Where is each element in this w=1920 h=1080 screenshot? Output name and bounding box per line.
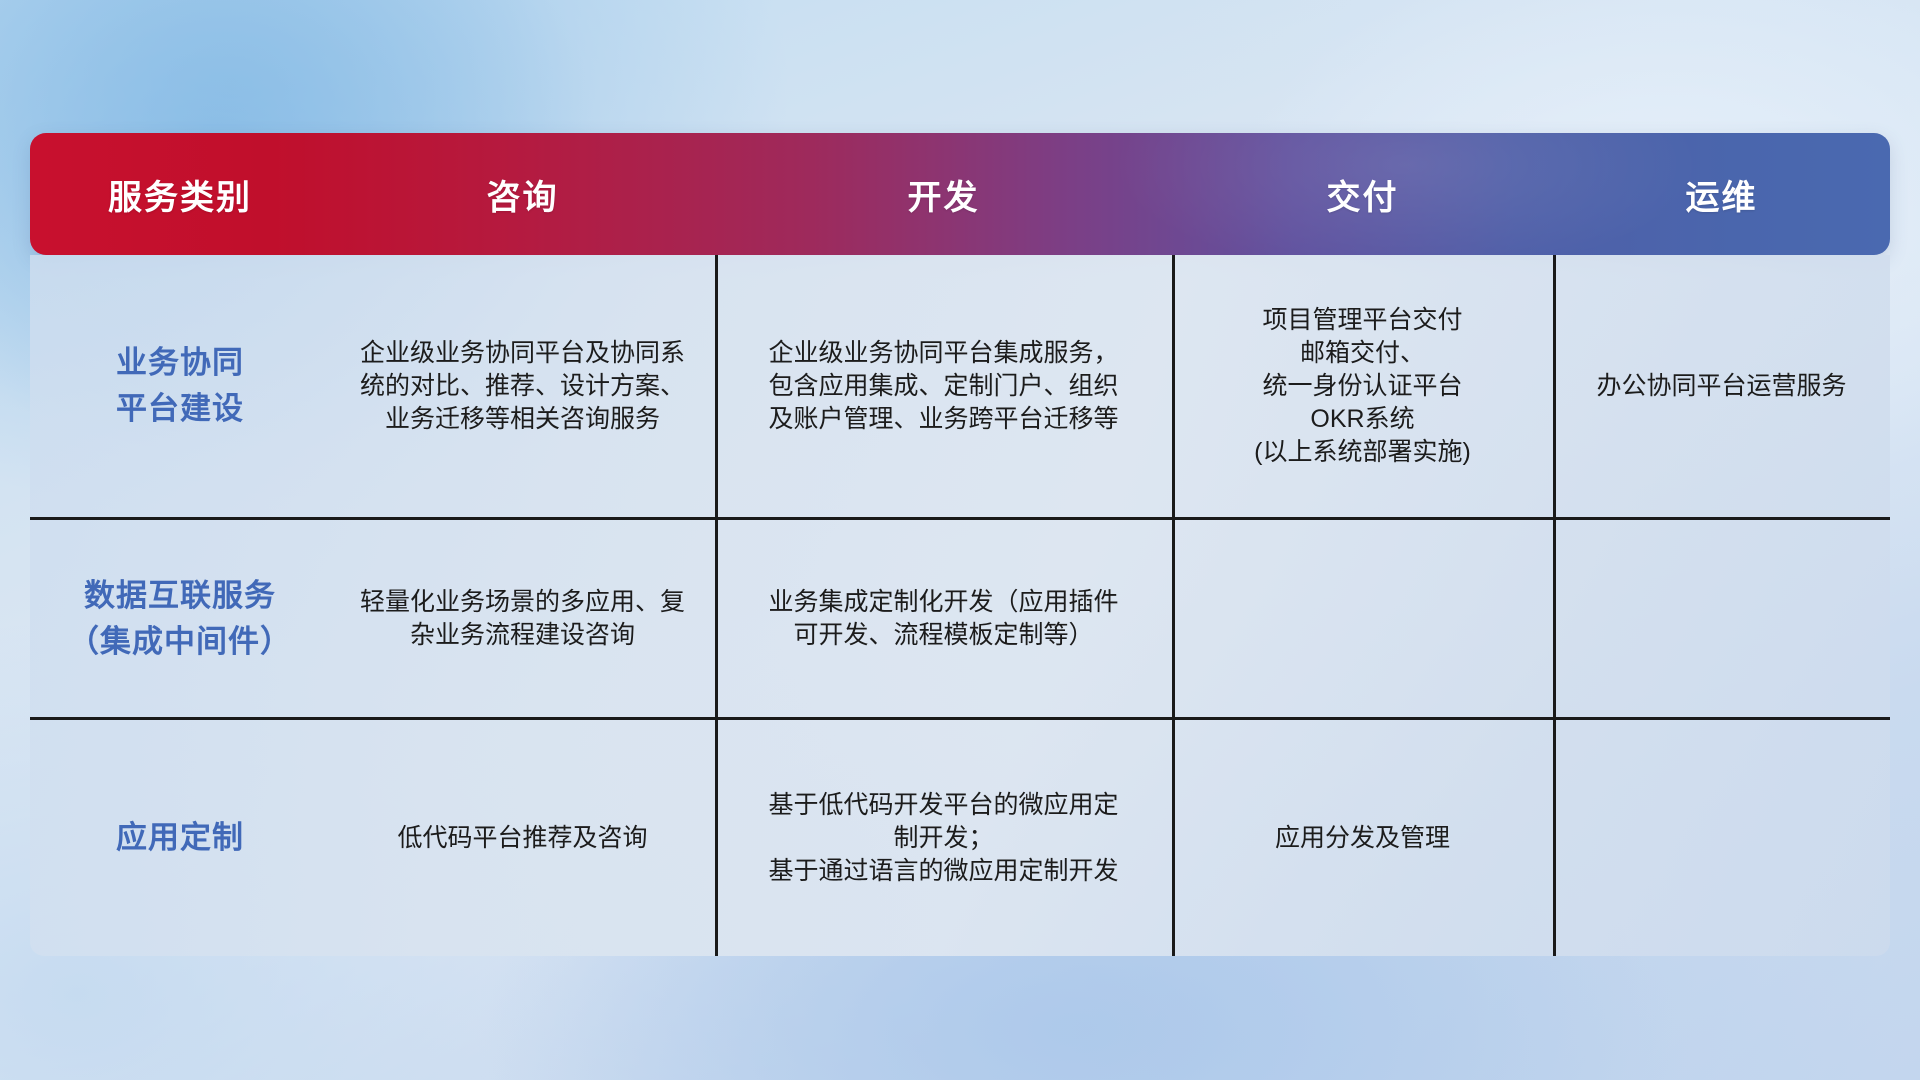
row-category-label: 业务协同 平台建设	[30, 255, 330, 517]
cell-development: 企业级业务协同平台集成服务， 包含应用集成、定制门户、组织 及账户管理、业务跨平…	[715, 255, 1172, 517]
cell-consulting: 企业级业务协同平台及协同系 统的对比、推荐、设计方案、 业务迁移等相关咨询服务	[330, 255, 715, 517]
table-row: 数据互联服务 （集成中间件） 轻量化业务场景的多应用、复 杂业务流程建设咨询 业…	[30, 517, 1890, 717]
row-category-label: 数据互联服务 （集成中间件）	[30, 520, 330, 717]
table-row: 业务协同 平台建设 企业级业务协同平台及协同系 统的对比、推荐、设计方案、 业务…	[30, 255, 1890, 517]
cell-delivery: 应用分发及管理	[1172, 720, 1553, 956]
service-matrix-table: 服务类别 咨询 开发 交付 运维 业务协同 平台建设 企业级业务协同平台及协同系…	[30, 133, 1890, 956]
cell-delivery	[1172, 520, 1553, 717]
table-header-row: 服务类别 咨询 开发 交付 运维	[30, 133, 1890, 255]
slide-canvas: 服务类别 咨询 开发 交付 运维 业务协同 平台建设 企业级业务协同平台及协同系…	[0, 0, 1920, 1080]
cell-operations	[1553, 720, 1890, 956]
column-header-delivery: 交付	[1172, 133, 1553, 255]
column-header-development: 开发	[715, 133, 1172, 255]
cell-operations: 办公协同平台运营服务	[1553, 255, 1890, 517]
cell-consulting: 低代码平台推荐及咨询	[330, 720, 715, 956]
table-body: 业务协同 平台建设 企业级业务协同平台及协同系 统的对比、推荐、设计方案、 业务…	[30, 255, 1890, 956]
column-header-consulting: 咨询	[330, 133, 715, 255]
table-row: 应用定制 低代码平台推荐及咨询 基于低代码开发平台的微应用定 制开发； 基于通过…	[30, 717, 1890, 956]
column-header-operations: 运维	[1553, 133, 1890, 255]
column-header-service-category: 服务类别	[30, 133, 330, 255]
cell-development: 基于低代码开发平台的微应用定 制开发； 基于通过语言的微应用定制开发	[715, 720, 1172, 956]
cell-operations	[1553, 520, 1890, 717]
row-category-label: 应用定制	[30, 720, 330, 956]
cell-development: 业务集成定制化开发（应用插件 可开发、流程模板定制等）	[715, 520, 1172, 717]
cell-delivery: 项目管理平台交付 邮箱交付、 统一身份认证平台 OKR系统 (以上系统部署实施)	[1172, 255, 1553, 517]
cell-consulting: 轻量化业务场景的多应用、复 杂业务流程建设咨询	[330, 520, 715, 717]
